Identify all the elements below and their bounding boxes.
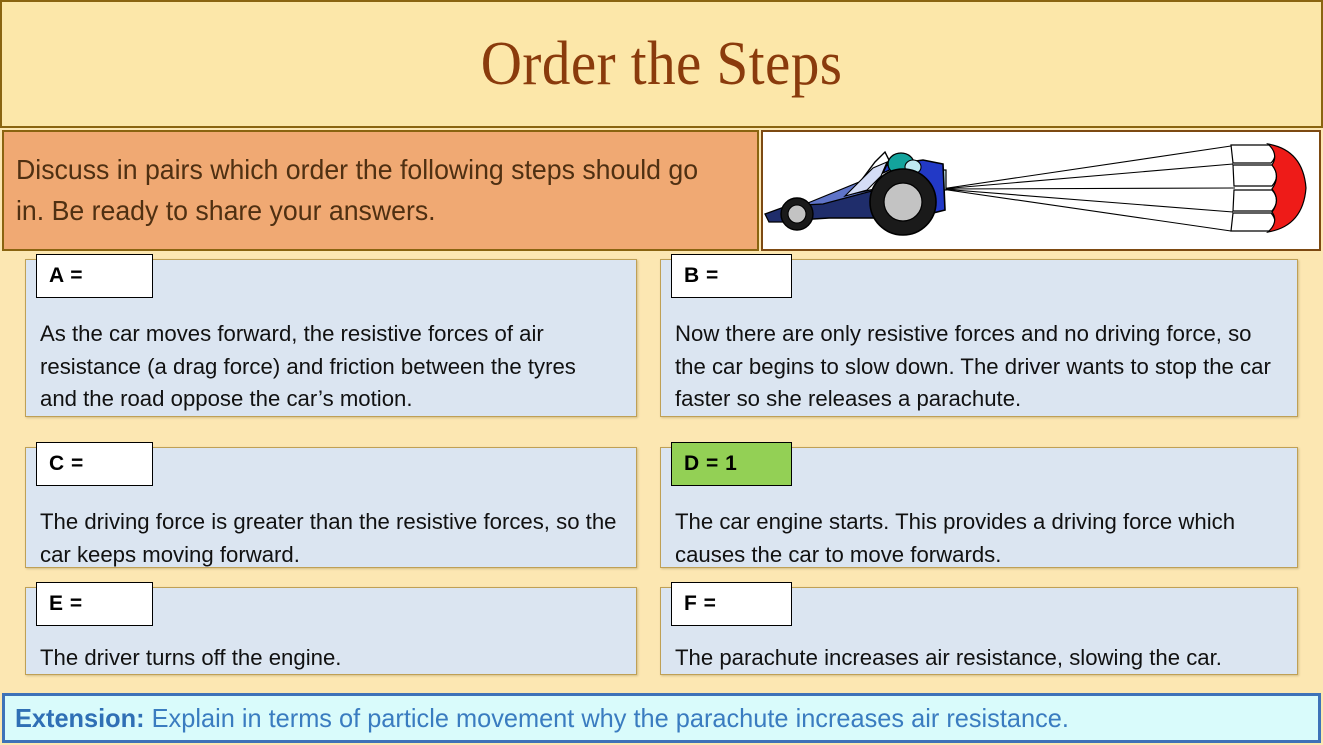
extension-prefix: Extension: [15,703,145,733]
dragster-parachute-illustration [761,130,1321,251]
step-card-e-label[interactable]: E = [36,582,153,626]
instruction-text: Discuss in pairs which order the followi… [16,150,723,231]
slide-canvas: Order the Steps Discuss in pairs which o… [0,0,1323,745]
step-card-e-text: The driver turns off the engine. [40,642,617,675]
step-card-a-text: As the car moves forward, the resistive … [40,318,617,416]
extension-text: Extension: Explain in terms of particle … [15,705,1069,731]
steps-card-grid: As the car moves forward, the resistive … [0,251,1323,687]
page-title: Order the Steps [481,33,843,95]
step-card-a-label[interactable]: A = [36,254,153,298]
step-card-d-label[interactable]: D = 1 [671,442,792,486]
step-card-f-label[interactable]: F = [671,582,792,626]
instruction-band: Discuss in pairs which order the followi… [2,130,759,251]
title-band: Order the Steps [0,0,1323,128]
step-card-b-text: Now there are only resistive forces and … [675,318,1278,416]
dragster-parachute-icon [763,132,1319,249]
extension-question: Explain in terms of particle movement wh… [152,703,1069,733]
step-card-c-label[interactable]: C = [36,442,153,486]
step-card-b-label[interactable]: B = [671,254,792,298]
step-card-c-text: The driving force is greater than the re… [40,506,617,571]
step-card-f-text: The parachute increases air resistance, … [675,642,1278,675]
extension-band: Extension: Explain in terms of particle … [2,693,1321,743]
step-card-d-text: The car engine starts. This provides a d… [675,506,1278,571]
